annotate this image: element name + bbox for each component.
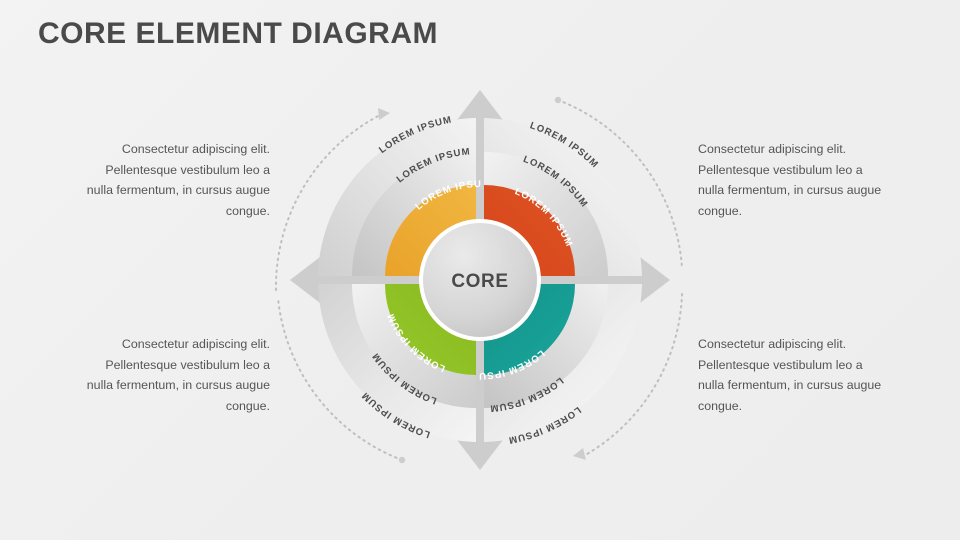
description-top-left: Consectetur adipiscing elit. Pellentesqu… [82, 139, 270, 221]
core-element-diagram: CORE LOREM IPSUM LOREM IPSUM LOREM IPSUM… [258, 78, 702, 482]
dotted-arc-dot-bottom [399, 457, 405, 463]
description-bottom-left-text: Consectetur adipiscing elit. Pellentesqu… [82, 334, 270, 416]
core-label: CORE [451, 271, 508, 292]
slide-canvas: CORE ELEMENT DIAGRAM Consectetur adipisc… [0, 0, 960, 540]
dotted-arc-arrowhead-bottom [573, 448, 586, 460]
page-title: CORE ELEMENT DIAGRAM [38, 17, 438, 51]
core-circle-group[interactable]: CORE [419, 219, 541, 341]
description-top-right: Consectetur adipiscing elit. Pellentesqu… [698, 139, 886, 221]
description-bottom-right: Consectetur adipiscing elit. Pellentesqu… [698, 334, 886, 416]
description-bottom-right-text: Consectetur adipiscing elit. Pellentesqu… [698, 334, 886, 416]
description-bottom-left: Consectetur adipiscing elit. Pellentesqu… [82, 334, 270, 416]
dotted-arc-arrowhead-top [378, 108, 390, 120]
description-top-right-text: Consectetur adipiscing elit. Pellentesqu… [698, 139, 886, 221]
description-top-left-text: Consectetur adipiscing elit. Pellentesqu… [82, 139, 270, 221]
dotted-arc-dot-top [555, 97, 561, 103]
